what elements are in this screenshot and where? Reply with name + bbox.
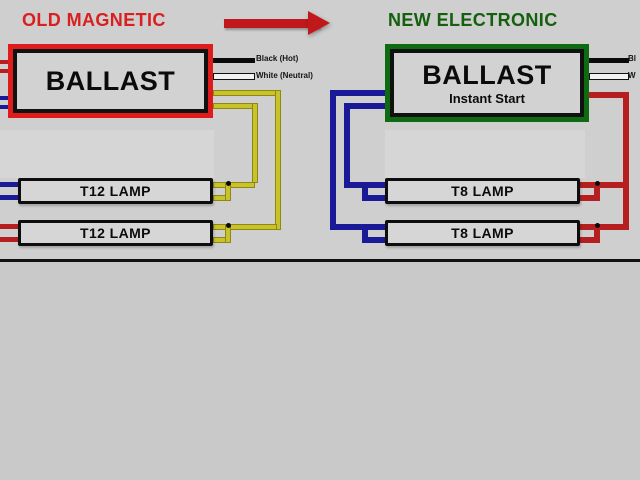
wire-white-neutral-new bbox=[589, 73, 629, 80]
wire-blue-new-inner-bottom bbox=[344, 182, 364, 188]
background-wash bbox=[0, 130, 214, 178]
wire-red-old-lamp2-pin2 bbox=[0, 237, 20, 242]
wire-blue-new-lamp1-pin1 bbox=[362, 182, 386, 188]
background-wash bbox=[385, 130, 585, 178]
lamp-t8-upper: T8 LAMP bbox=[385, 178, 580, 204]
ballast-old-inner: BALLAST bbox=[13, 49, 208, 113]
wire-yellow-old-lamp1-pin2 bbox=[213, 195, 231, 201]
wire-white-neutral-old bbox=[213, 73, 255, 80]
wire-blue-new-lamp2-pin2 bbox=[362, 237, 386, 243]
ballast-old-label: BALLAST bbox=[46, 68, 175, 95]
ballast-old-magnetic: BALLAST bbox=[8, 44, 213, 118]
wire-red-new-lamp1-pin2 bbox=[580, 195, 600, 201]
wire-black-hot-old bbox=[213, 58, 255, 63]
wire-red-new-top bbox=[589, 92, 629, 98]
junction-node-new-lamp1 bbox=[595, 181, 600, 186]
ballast-new-label: BALLAST bbox=[422, 62, 551, 89]
wire-blue-new-outer-bottom bbox=[330, 224, 362, 230]
lamp-t12-upper: T12 LAMP bbox=[18, 178, 213, 204]
wire-yellow-old-inner-top bbox=[213, 103, 258, 109]
transition-arrow-shaft bbox=[224, 19, 320, 28]
label-black-hot-old: Black (Hot) bbox=[256, 54, 298, 63]
lamp-t8-lower: T8 LAMP bbox=[385, 220, 580, 246]
wire-blue-new-lamp2-jumper bbox=[362, 224, 368, 243]
transition-arrow-head bbox=[308, 11, 330, 35]
ballast-new-electronic: BALLAST Instant Start bbox=[385, 44, 589, 122]
junction-node-new-lamp2 bbox=[595, 223, 600, 228]
wire-yellow-old-inner-bottom bbox=[215, 182, 255, 188]
lamp-t8-upper-label: T8 LAMP bbox=[451, 183, 514, 199]
junction-node-old-lamp1 bbox=[226, 181, 231, 186]
wire-blue-new-inner-top bbox=[344, 103, 388, 109]
wire-blue-old-lamp1-pin1 bbox=[0, 182, 20, 187]
wire-yellow-old-outer-top bbox=[213, 90, 281, 96]
lamp-t12-lower-label: T12 LAMP bbox=[80, 225, 151, 241]
lamp-t12-lower: T12 LAMP bbox=[18, 220, 213, 246]
ballast-new-inner: BALLAST Instant Start bbox=[390, 49, 584, 117]
wire-blue-new-inner-vertical bbox=[344, 103, 350, 183]
wire-red-old-lamp2-pin1 bbox=[0, 224, 20, 229]
section-title-old-magnetic: OLD MAGNETIC bbox=[22, 10, 166, 31]
wire-blue-new-lamp1-jumper bbox=[362, 182, 368, 201]
wire-red-new-lamp2-pin2 bbox=[580, 237, 600, 243]
wire-red-new-lamp2-feed bbox=[598, 224, 629, 230]
ballast-new-subtitle: Instant Start bbox=[449, 92, 525, 105]
junction-node-old-lamp2 bbox=[226, 223, 231, 228]
wire-yellow-old-outer-bottom bbox=[215, 224, 277, 230]
label-white-neutral-old: White (Neutral) bbox=[256, 71, 313, 80]
lamp-t8-lower-label: T8 LAMP bbox=[451, 225, 514, 241]
wiring-diagram-panel: OLD MAGNETIC NEW ELECTRONIC BALLAST Blac… bbox=[0, 0, 640, 261]
wire-blue-new-outer-top bbox=[330, 90, 388, 96]
diagram-canvas: OLD MAGNETIC NEW ELECTRONIC BALLAST Blac… bbox=[0, 0, 640, 480]
lamp-t12-upper-label: T12 LAMP bbox=[80, 183, 151, 199]
diagram-bottom-rule bbox=[0, 259, 640, 262]
wire-yellow-old-outer-vertical bbox=[275, 90, 281, 230]
wire-blue-new-outer-vertical bbox=[330, 90, 336, 230]
section-title-new-electronic: NEW ELECTRONIC bbox=[388, 10, 558, 31]
wire-blue-new-lamp1-pin2 bbox=[362, 195, 386, 201]
wire-red-new-vertical bbox=[623, 92, 629, 230]
label-black-hot-new: Bl bbox=[628, 54, 636, 63]
label-white-neutral-new: W bbox=[628, 71, 636, 80]
wire-yellow-old-inner-vertical bbox=[252, 103, 258, 183]
wire-yellow-old-lamp2-pin2 bbox=[213, 237, 231, 243]
wire-blue-new-lamp2-pin1 bbox=[362, 224, 386, 230]
wire-black-hot-new bbox=[589, 58, 629, 63]
wire-red-new-lamp1-feed bbox=[598, 182, 629, 188]
wire-blue-old-lamp1-pin2 bbox=[0, 195, 20, 200]
